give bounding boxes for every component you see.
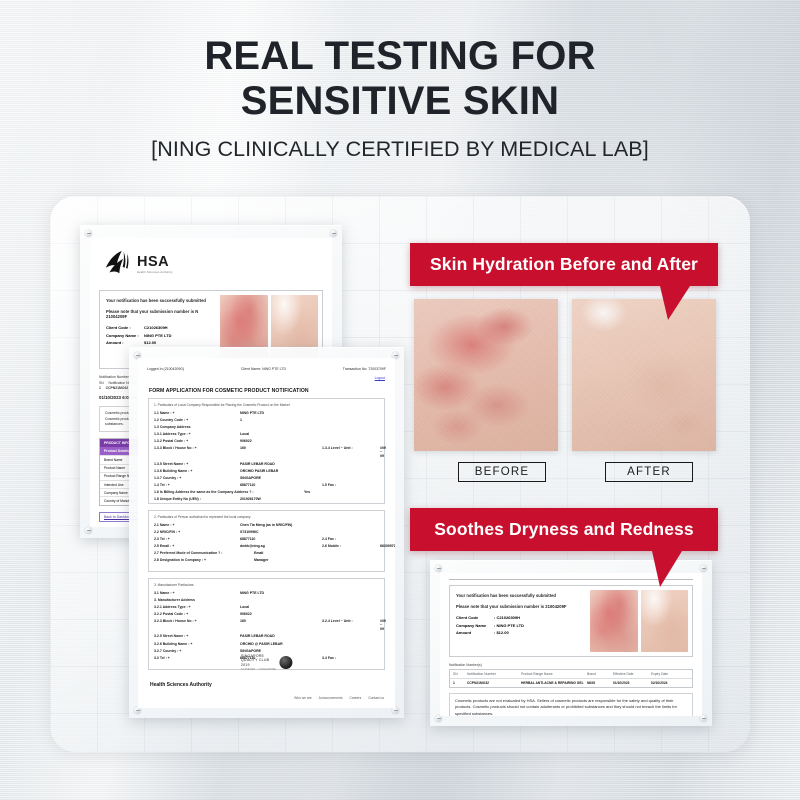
form-field-row: 3.1 Name : +NING PTE LTD xyxy=(154,591,379,595)
seal-tiny-text: ACHIEVED ~ SINGAPORE xyxy=(241,668,276,671)
form-field-row: 1.4 Tel : + 68877110 1.5 Fax : xyxy=(154,483,379,487)
field-value: Local xyxy=(240,432,322,436)
receipt-field-row: Client Code : C21026309H xyxy=(456,615,584,620)
form-footer-links: Who we are Announcements Careers Contact… xyxy=(294,696,384,700)
field-label: 3.2.1 Address Type : + xyxy=(154,605,240,609)
banner-skin-hydration: Skin Hydration Before and After xyxy=(410,243,718,286)
field-value: S7310996C xyxy=(240,530,322,534)
frame-screw-icon xyxy=(700,715,707,722)
form-field-row: 3.2.1 Address Type : +Local xyxy=(154,605,379,609)
field-label: 2.8 Designation in Company : + xyxy=(154,558,254,562)
receipt-summary-box: Your notification has been successfully … xyxy=(449,585,693,657)
field-value: PASIR LEBAR ROAD xyxy=(240,634,322,638)
row-label: Brand Name xyxy=(104,458,123,462)
footer-link-announcements[interactable]: Announcements xyxy=(319,696,343,700)
field-value: SINGAPORE xyxy=(240,476,322,480)
field-value: : C21026309H xyxy=(494,615,520,620)
footer-link-who-we-are[interactable]: Who we are xyxy=(294,696,312,700)
field-label: 3. Manufacturer Address xyxy=(154,598,240,602)
banner-tail-shape xyxy=(652,551,682,587)
th-effective-date: Effective Date xyxy=(613,672,651,676)
hsa-logo: HSA Health Sciences Authority xyxy=(103,249,173,279)
headline-subtitle: [NING CLINICALLY CERTIFIED BY MEDICAL LA… xyxy=(0,137,800,162)
field-value: 68877110 xyxy=(240,483,322,487)
document-page-notification-form: Logged In (21004209G) Client Name: NING … xyxy=(138,358,395,708)
field-value: NING PTE LTD xyxy=(144,333,171,338)
table-row: 1 CCPN21MO32 HERBAL ANTI-ACNE & REPAIRIN… xyxy=(450,679,692,687)
field-label: 1.2 Country Code : + xyxy=(154,418,240,422)
field-key: Amount : xyxy=(106,340,144,345)
hsa-logo-word: HSA xyxy=(137,255,173,270)
form-header-bar: Logged In (21004209G) Client Name: NING … xyxy=(147,367,386,371)
banner-skin-hydration-label: Skin Hydration Before and After xyxy=(430,254,698,275)
field-value: 160 xyxy=(240,446,322,450)
field-label: 2.7 Preferred Mode of Communication ? : xyxy=(154,551,254,555)
td-effective-date: 01/10/2023 xyxy=(613,681,651,685)
form-field-row: 3.2.5 Street Name : +PASIR LEBAR ROAD xyxy=(154,634,379,638)
banner-tail-shape xyxy=(660,286,690,320)
section-2-heading: 2. Particulars of Person authorised to r… xyxy=(154,515,379,519)
field-value: 160 xyxy=(240,619,322,623)
field-label: 3.2.5 Street Name : + xyxy=(154,634,240,638)
frame-screw-icon xyxy=(85,230,92,237)
section-3-heading: 3. Manufacturer Particulars xyxy=(154,583,379,587)
td-notification-number: CCPN21MO32 xyxy=(467,681,521,685)
field-label: 3.3 Tel : + xyxy=(154,656,240,660)
form-field-row: 1.3.7 Country : +SINGAPORE xyxy=(154,476,379,480)
headline-block: REAL TESTING FOR SENSITIVE SKIN [NING CL… xyxy=(0,34,800,162)
field-value-secondary: #09 ~ 09 xyxy=(380,446,386,458)
form-section-2: 2. Particulars of Person authorised to r… xyxy=(148,510,385,572)
seal-line-3: 2019 xyxy=(241,663,276,667)
field-label: 2.1 Name : + xyxy=(154,523,240,527)
form-field-row: 1.3 Company Address xyxy=(154,425,379,429)
field-value: ORCHID PASIR LEBAR xyxy=(240,469,322,473)
td-product-range-name: HERBAL ANTI-ACNE & REPAIRING GEL xyxy=(521,681,587,685)
form-field-row: 2.8 Designation in Company : +Manager xyxy=(154,558,379,562)
form-client-name: Client Name: NING PTE LTD xyxy=(241,367,286,371)
th-brand: Brand xyxy=(587,672,613,676)
form-field-row: 2.7 Preferred Mode of Communication ? :E… xyxy=(154,551,379,555)
section-1-heading: 1. Particulars of Local Company Responsi… xyxy=(154,403,379,407)
row-label: Intended Use xyxy=(104,483,124,487)
receipt-disclaimer: Cosmetic products are not evaluated by H… xyxy=(449,693,693,716)
field-label: 1.3.5 Street Name : + xyxy=(154,462,240,466)
form-field-row: 2.5 Email : + dwhk@ning.sg 2.6 Mobile : … xyxy=(154,544,379,548)
photo-grain-overlay xyxy=(414,299,558,451)
confirmation-submission-line: Please note that your submission number … xyxy=(106,309,214,319)
before-caption: BEFORE xyxy=(458,462,546,482)
field-value: 906022 xyxy=(240,439,322,443)
row-label: Company Name xyxy=(104,491,128,495)
seal-globe-icon xyxy=(279,656,292,669)
field-label-secondary: 2.6 Mobile : xyxy=(322,544,380,548)
form-field-row: 1.3.2 Postal Code : +906022 xyxy=(154,439,379,443)
form-field-row: 3.2.6 Building Name : +ORCHID @ PASIR LE… xyxy=(154,642,379,646)
headline-line-1: REAL TESTING FOR xyxy=(0,34,800,79)
receipt-skin-comparison xyxy=(590,586,692,656)
field-label: 1.1 Name : + xyxy=(154,411,240,415)
frame-screw-icon xyxy=(330,230,337,237)
hsa-butterfly-mark-icon xyxy=(103,249,133,279)
footer-link-contact-us[interactable]: Contact us xyxy=(368,696,384,700)
banner-soothes-dryness: Soothes Dryness and Redness xyxy=(410,508,718,551)
frame-screw-icon xyxy=(392,707,399,714)
logout-link[interactable]: Logout xyxy=(375,376,385,380)
form-field-row: 3.2.7 Country : +SINGAPORE xyxy=(154,649,379,653)
page-title: REAL TESTING FOR SENSITIVE SKIN xyxy=(0,34,800,124)
field-key: Amount xyxy=(456,630,494,635)
field-value: SINGAPORE xyxy=(240,649,322,653)
form-field-row: 1.3.3 Block / House No : + 160 1.3.4 Lev… xyxy=(154,446,379,458)
field-value: ORCHID @ PASIR LEBAR xyxy=(240,642,322,646)
form-section-1: 1. Particulars of Local Company Responsi… xyxy=(148,398,385,504)
table-header-row: SN Notification Number Product Range Nam… xyxy=(450,670,692,679)
field-key: Client Code : xyxy=(106,325,144,330)
field-label: 3.2.7 Country : + xyxy=(154,649,240,653)
footer-link-careers[interactable]: Careers xyxy=(350,696,362,700)
field-label: 3.1 Name : + xyxy=(154,591,240,595)
field-value: dwhk@ning.sg xyxy=(240,544,322,548)
row-label: Product Name xyxy=(104,466,125,470)
photo-grain-overlay xyxy=(572,299,716,451)
field-value: 1 xyxy=(240,418,322,422)
before-photo xyxy=(414,299,558,451)
form-logged-in-id: Logged In (21004209G) xyxy=(147,367,184,371)
headline-line-2: SENSITIVE SKIN xyxy=(0,79,800,124)
form-field-row: 1.2 Country Code : +1 xyxy=(154,418,379,422)
field-label-secondary: 3.4 Fax : xyxy=(322,656,380,660)
field-value: : $12.00 xyxy=(494,630,509,635)
form-field-row: 2.3 Tel : + 68877110 2.4 Fax : xyxy=(154,537,379,541)
receipt-skin-before-image xyxy=(590,590,638,652)
field-key: Company Name : xyxy=(106,333,144,338)
field-value: Email xyxy=(254,551,336,555)
meta-row-number: CCPN21MO32 xyxy=(106,386,129,390)
field-value: NING PTE LTD xyxy=(240,591,322,595)
singapore-quality-club-seal: SINGAPORE QUALITY CLUB 2019 ACHIEVED ~ S… xyxy=(241,654,292,671)
receipt-field-row: Amount : $12.00 xyxy=(456,630,584,635)
form-field-row: 1.3.6 Building Name : +ORCHID PASIR LEBA… xyxy=(154,469,379,473)
field-label: 1.4 Tel : + xyxy=(154,483,240,487)
document-frame-cosmetic-notification-form[interactable]: Logged In (21004209G) Client Name: NING … xyxy=(129,347,404,718)
form-field-row: 2.2 NRIC/FIN : +S7310996C xyxy=(154,530,379,534)
field-value: Yes xyxy=(304,490,386,494)
field-value: Manager xyxy=(254,558,336,562)
frame-screw-icon xyxy=(134,707,141,714)
td-brand: NING xyxy=(587,681,613,685)
form-field-row: 3.2.3 Block / House No : + 160 3.2.4 Lev… xyxy=(154,619,379,631)
field-value: 201926170W xyxy=(240,497,322,501)
field-label: 2.2 NRIC/FIN : + xyxy=(154,530,240,534)
th-sn: SN xyxy=(453,672,467,676)
field-label-secondary: 3.2.4 Level ~ Unit : xyxy=(322,619,380,623)
receipt-notification-heading: Notification Number(s) xyxy=(449,663,693,667)
field-value: 906022 xyxy=(240,612,322,616)
field-value: NING PTE LTD xyxy=(240,411,322,415)
th-notification-number: Notification Number xyxy=(467,672,521,676)
field-value: Chen Tia Meng (as in NRIC/FIN) xyxy=(240,523,292,527)
field-label-secondary: 1.5 Fax : xyxy=(322,483,380,487)
form-field-row: 1.3.1 Address Type : +Local xyxy=(154,432,379,436)
form-field-row: 2.1 Name : +Chen Tia Meng (as in NRIC/FI… xyxy=(154,523,379,527)
receipt-skin-after-image xyxy=(641,590,689,652)
form-field-row: 1.1 Name : +NING PTE LTD xyxy=(154,411,379,415)
field-value: $12.00 xyxy=(144,340,156,345)
field-label: 1.3.1 Address Type : + xyxy=(154,432,240,436)
field-value: C21026309H xyxy=(144,325,168,330)
field-label: 1.3.6 Building Name : + xyxy=(154,469,240,473)
form-field-row: 3.2.2 Postal Code : +906022 xyxy=(154,612,379,616)
form-field-row: 1.3.5 Street Name : +PASIR LEBAR ROAD xyxy=(154,462,379,466)
field-value: : NING PTE LTD xyxy=(494,623,524,628)
receipt-field-row: Company Name : NING PTE LTD xyxy=(456,623,584,628)
field-value: 68877110 xyxy=(240,537,322,541)
notification-table: SN Notification Number Product Range Nam… xyxy=(449,669,693,688)
field-value-secondary: 66309970 xyxy=(380,544,395,548)
field-label: 2.5 Email : + xyxy=(154,544,240,548)
td-sn: 1 xyxy=(453,681,467,685)
td-expiry-date: 02/10/2024 xyxy=(651,681,689,685)
field-label: 1.3.2 Postal Code : + xyxy=(154,439,240,443)
field-label: 1.6 Is Billing Address the same as the C… xyxy=(154,490,304,494)
form-field-row: 1.6 Is Billing Address the same as the C… xyxy=(154,490,379,494)
receipt-success-line: Your notification has been successfully … xyxy=(456,593,584,598)
field-value: PASIR LEBAR ROAD xyxy=(240,462,322,466)
field-label: 3.2.6 Building Name : + xyxy=(154,642,240,646)
confirmation-success-line: Your notification has been successfully … xyxy=(106,298,214,303)
form-transaction-no: Transaction No: 72003709F xyxy=(343,367,386,371)
form-field-row: 3. Manufacturer Address xyxy=(154,598,379,602)
health-sciences-authority-label: Health Sciences Authority xyxy=(150,682,212,688)
after-photo xyxy=(572,299,716,451)
after-caption: AFTER xyxy=(605,462,693,482)
confirmation-field-row: Client Code : C21026309H xyxy=(106,325,214,330)
field-label: 2.3 Tel : + xyxy=(154,537,240,541)
field-key: Company Name xyxy=(456,623,494,628)
field-value-secondary: #09 ~ 09 xyxy=(380,619,386,631)
meta-row-sn: 1 xyxy=(99,386,101,390)
field-label: 3.2.3 Block / House No : + xyxy=(154,619,240,623)
th-product-range-name: Product Range Name xyxy=(521,672,587,676)
banner-soothes-dryness-label: Soothes Dryness and Redness xyxy=(434,519,693,540)
frame-screw-icon xyxy=(435,715,442,722)
receipt-submission-line: Please note that your submission number … xyxy=(456,604,584,609)
field-label-secondary: 2.4 Fax : xyxy=(322,537,380,541)
frame-screw-icon xyxy=(700,565,707,572)
frame-screw-icon xyxy=(85,527,92,534)
form-field-row: 1.8 Unique Entity No (UEN) :201926170W xyxy=(154,497,379,501)
field-label: 1.3.3 Block / House No : + xyxy=(154,446,240,450)
field-label: 1.3 Company Address xyxy=(154,425,240,429)
hsa-logo-tagline: Health Sciences Authority xyxy=(137,271,173,274)
field-label: 1.3.7 Country : + xyxy=(154,476,240,480)
confirmation-field-row: Amount : $12.00 xyxy=(106,340,214,345)
field-key: Client Code xyxy=(456,615,494,620)
confirmation-field-row: Company Name : NING PTE LTD xyxy=(106,333,214,338)
frame-screw-icon xyxy=(435,565,442,572)
th-expiry-date: Expiry Date xyxy=(651,672,689,676)
document-page-notification-receipt: Your notification has been successfully … xyxy=(440,573,702,716)
field-label: 1.8 Unique Entity No (UEN) : xyxy=(154,497,240,501)
field-value: Local xyxy=(240,605,322,609)
meta-col-sn: SN xyxy=(99,381,104,385)
field-label-secondary: 1.3.4 Level ~ Unit : xyxy=(322,446,380,450)
receipt-footer-block: Notification Number(s) SN Notification N… xyxy=(449,663,693,716)
form-title: FORM APPLICATION FOR COSMETIC PRODUCT NO… xyxy=(149,388,309,394)
field-label: 3.2.2 Postal Code : + xyxy=(154,612,240,616)
